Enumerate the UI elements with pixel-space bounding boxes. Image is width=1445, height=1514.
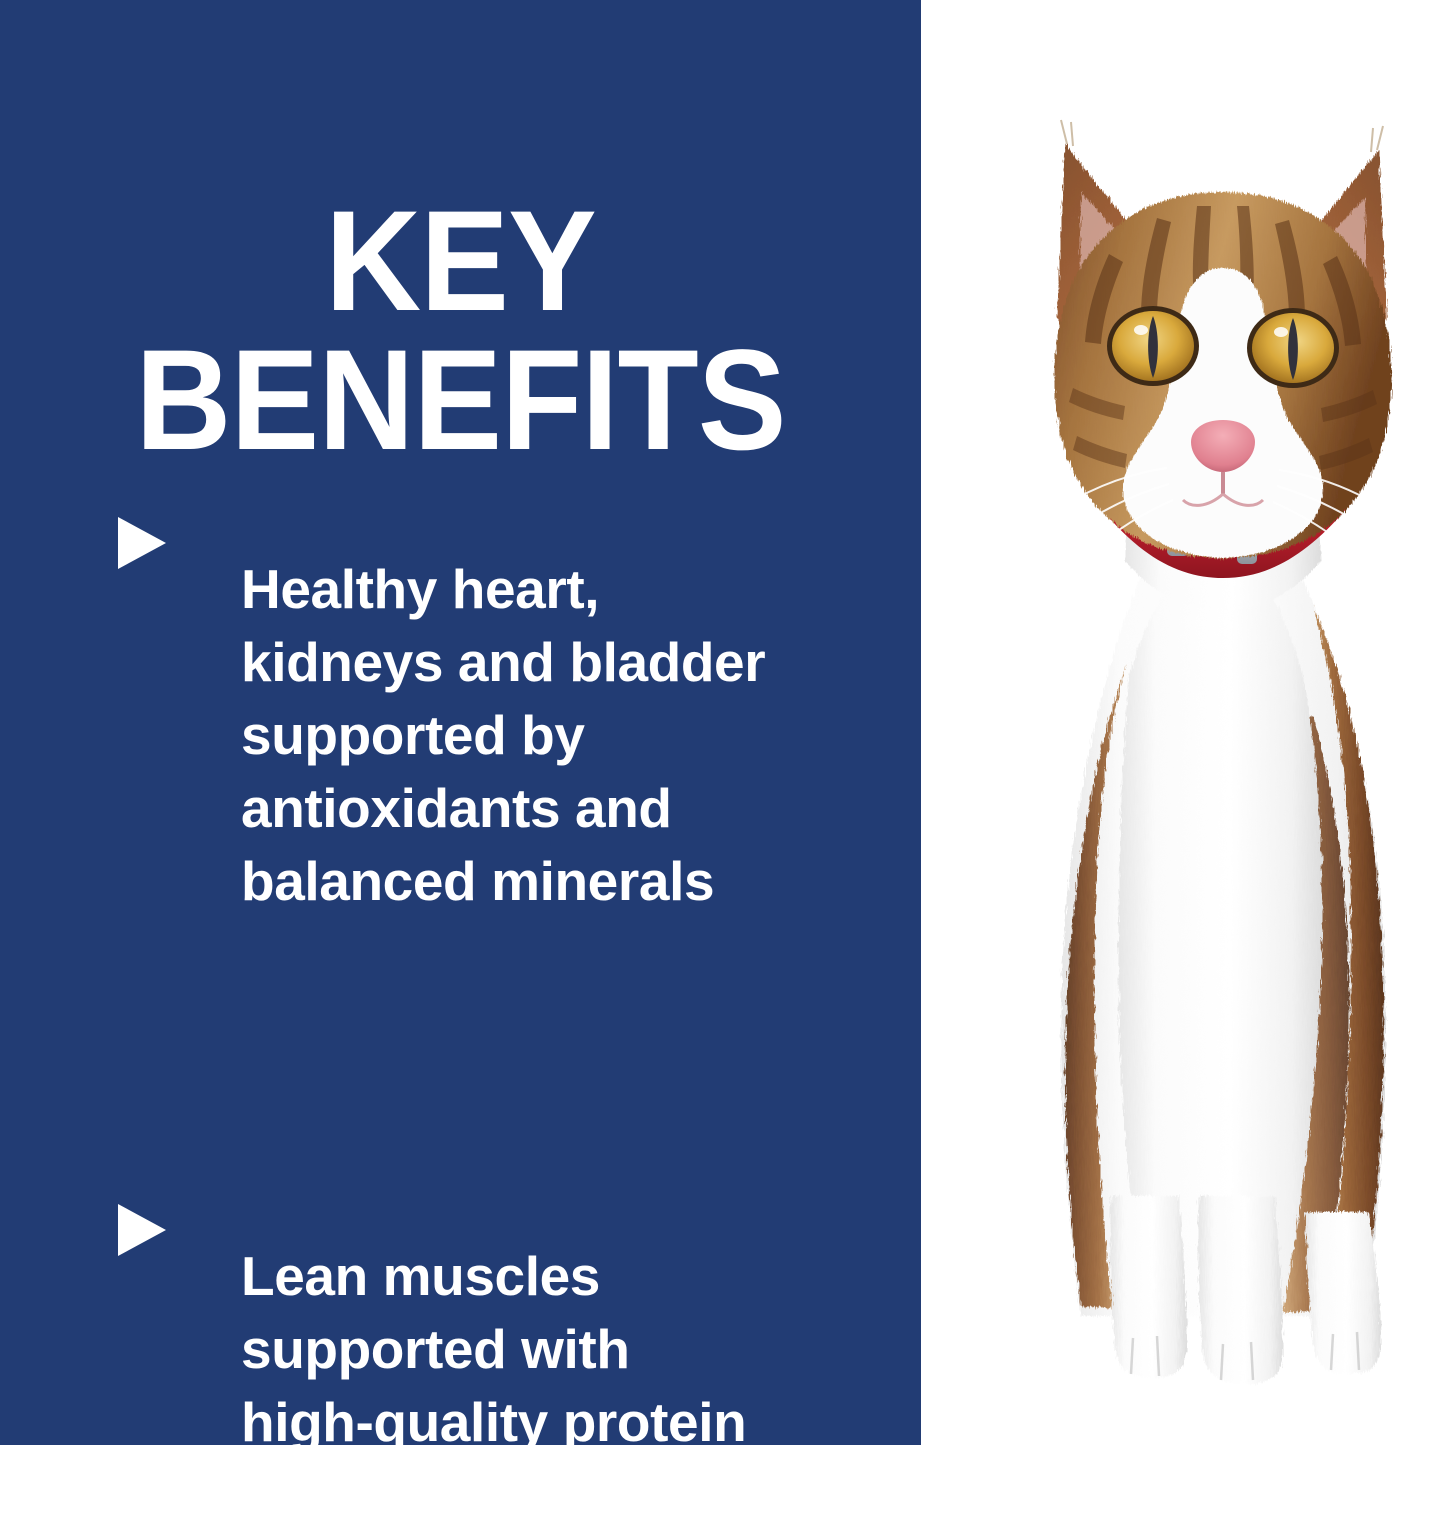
key-benefits-banner: KEY BENEFITS Healthy heart, kidneys and … [0, 0, 1445, 1445]
triangle-right-icon [118, 1204, 166, 1256]
benefit-text: Healthy heart, kidneys and bladder suppo… [241, 553, 765, 918]
key-benefits-panel: KEY BENEFITS Healthy heart, kidneys and … [0, 0, 921, 1445]
benefits-list: Healthy heart, kidneys and bladder suppo… [0, 498, 921, 1514]
cat-photo-panel [921, 0, 1445, 1445]
triangle-right-icon [118, 517, 166, 569]
cat-photo [961, 16, 1445, 1445]
list-item: Lean muscles supported with high-quality… [0, 1185, 921, 1514]
list-item: Healthy heart, kidneys and bladder suppo… [0, 498, 921, 973]
page-title: KEY BENEFITS [32, 192, 889, 470]
benefit-text: Lean muscles supported with high-quality… [241, 1240, 746, 1459]
